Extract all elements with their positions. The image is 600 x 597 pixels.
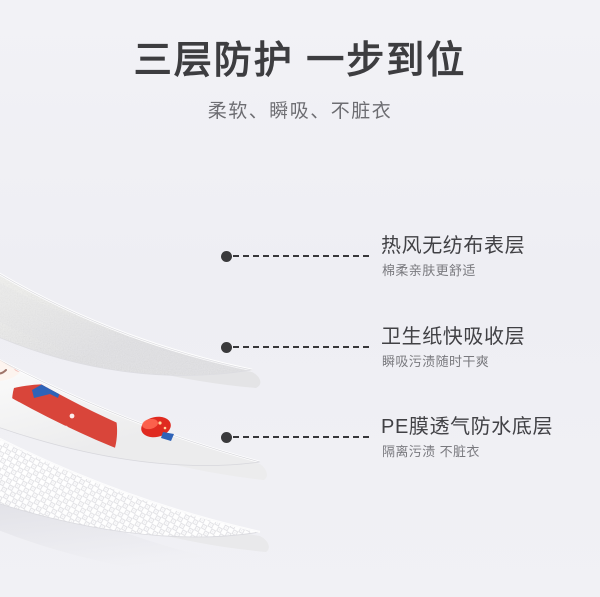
callout-label-bottom: PE膜透气防水底层 — [381, 415, 553, 440]
callout-text-bottom: PE膜透气防水底层 隔离污渍 不脏衣 — [381, 415, 553, 461]
callout-label-top: 热风无纺布表层 — [381, 234, 525, 259]
callout-text-top: 热风无纺布表层 棉柔亲肤更舒适 — [381, 234, 525, 280]
product-layers-infographic: 三层防护 一步到位 柔软、瞬吸、不脏衣 — [0, 0, 600, 597]
page-title: 三层防护 一步到位 — [0, 38, 600, 84]
leader-line-bottom — [233, 436, 369, 438]
leader-line-top — [233, 255, 369, 257]
header-block: 三层防护 一步到位 柔软、瞬吸、不脏衣 — [0, 38, 600, 124]
leader-line-middle — [233, 346, 369, 348]
product-layer-stack — [0, 120, 390, 580]
callout-label-middle: 卫生纸快吸收层 — [381, 325, 525, 350]
layer-marker-top-icon — [221, 251, 232, 262]
page-subtitle: 柔软、瞬吸、不脏衣 — [0, 100, 600, 124]
layer-marker-middle-icon — [221, 342, 232, 353]
callout-sub-middle: 瞬吸污渍随时干爽 — [382, 353, 525, 371]
layer-marker-bottom-icon — [221, 432, 232, 443]
callout-text-middle: 卫生纸快吸收层 瞬吸污渍随时干爽 — [381, 325, 525, 371]
callout-sub-top: 棉柔亲肤更舒适 — [382, 262, 525, 280]
callout-sub-bottom: 隔离污渍 不脏衣 — [382, 443, 553, 461]
layer-nonwoven — [0, 80, 260, 388]
